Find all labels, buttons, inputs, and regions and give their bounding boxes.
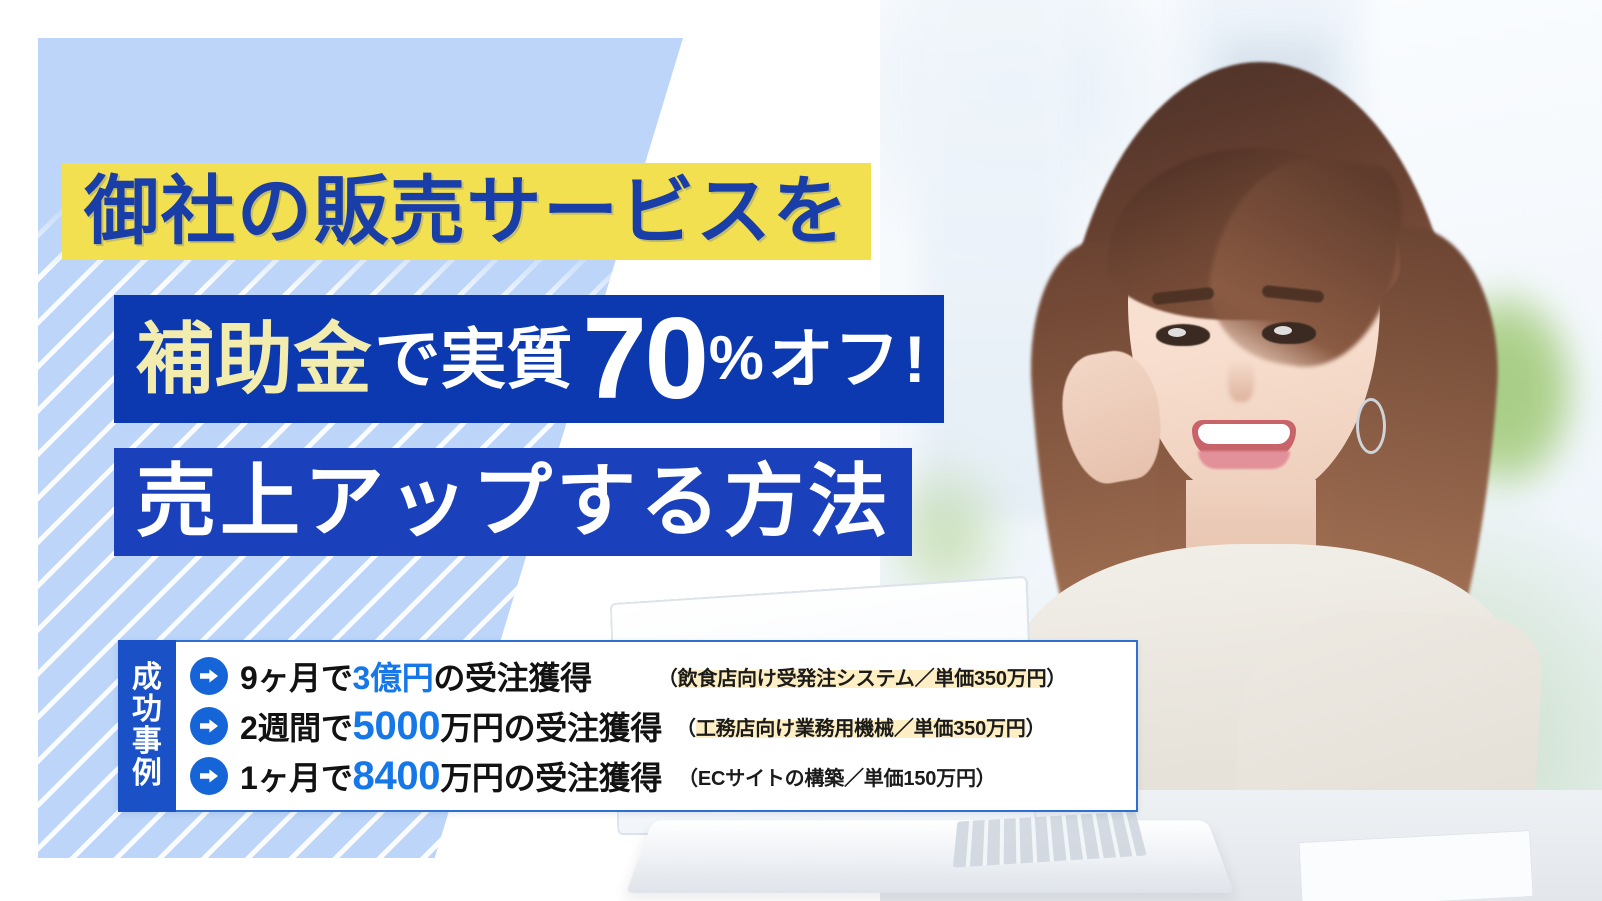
eye-highlight-left [1168, 328, 1186, 337]
laptop-base [626, 820, 1234, 893]
case-row: 9ヶ月で3億円の受注獲得 （飲食店向け受発注システム／単価350万円） [190, 651, 1136, 701]
hoop-earring-right [1356, 398, 1386, 454]
label-char-2: 功 [132, 694, 162, 726]
case-main-text: 9ヶ月で3億円の受注獲得 [240, 653, 592, 699]
case-row: 2週間で5000万円の受注獲得 （工務店向け業務用機械／単価350万円） [190, 701, 1136, 751]
headline-discount-number: 70 [582, 309, 706, 409]
case-note-highlight: 工務店向け業務用機械／単価350万円 [696, 718, 1026, 740]
eye-highlight-right [1274, 326, 1292, 335]
headline-off-word: オフ [768, 326, 900, 392]
case-note: （工務店向け業務用機械／単価350万円） [676, 712, 1045, 741]
headline-percent-sign: % [709, 328, 764, 390]
headline-line-1: 御社の販売サービスを [84, 174, 849, 249]
case-amount: 8400 [353, 754, 441, 798]
case-suffix: 万円の受注獲得 [440, 710, 662, 746]
lower-lip [1198, 451, 1290, 469]
arrow-right-icon [190, 757, 228, 795]
success-cases-rows: 9ヶ月で3億円の受注獲得 （飲食店向け受発注システム／単価350万円） 2週間で… [176, 642, 1136, 810]
case-suffix: の受注獲得 [433, 660, 591, 696]
case-note-text: ECサイトの構築／単価150万円 [698, 768, 976, 790]
case-note: （飲食店向け受発注システム／単価350万円） [658, 662, 1066, 691]
label-char-4: 例 [132, 758, 162, 790]
headline-effectively-word: で実質 [374, 326, 572, 392]
success-cases-label: 成 功 事 例 [118, 640, 176, 812]
case-prefix: 1ヶ月で [240, 760, 353, 796]
headline-exclamation: ! [904, 326, 926, 392]
teeth [1198, 424, 1290, 444]
headline-subsidy-word: 補助金 [136, 320, 372, 398]
case-prefix: 2週間で [240, 710, 353, 746]
case-note-highlight: 飲食店向け受発注システム／単価350万円 [678, 668, 1047, 690]
case-amount: 3億円 [353, 660, 434, 696]
label-char-1: 成 [132, 662, 162, 694]
arrow-right-icon [190, 707, 228, 745]
case-prefix: 9ヶ月で [240, 660, 353, 696]
arrow-right-icon [190, 657, 228, 695]
headline-band-1: 御社の販売サービスを [62, 163, 871, 260]
headline-band-3: 売上アップする方法 [114, 448, 912, 556]
banner-root: 御社の販売サービスを 補助金 で実質 70 % オフ ! 売上アップする方法 成… [0, 0, 1602, 901]
paper-sheet [1298, 830, 1533, 901]
case-note: （ECサイトの構築／単価150万円） [678, 762, 996, 791]
case-amount: 5000 [353, 704, 441, 748]
nose [1228, 360, 1254, 402]
headline-band-2: 補助金 で実質 70 % オフ ! [114, 295, 944, 423]
headline-line-3: 売上アップする方法 [136, 462, 892, 542]
case-suffix: 万円の受注獲得 [440, 760, 662, 796]
case-row: 1ヶ月で8400万円の受注獲得 （ECサイトの構築／単価150万円） [190, 751, 1136, 801]
case-main-text: 2週間で5000万円の受注獲得 [240, 703, 662, 749]
label-char-3: 事 [132, 726, 162, 758]
case-main-text: 1ヶ月で8400万円の受注獲得 [240, 753, 662, 799]
success-cases-box: 成 功 事 例 9ヶ月で3億円の受注獲得 （飲食店向け受発注システム／単価350… [118, 640, 1138, 812]
